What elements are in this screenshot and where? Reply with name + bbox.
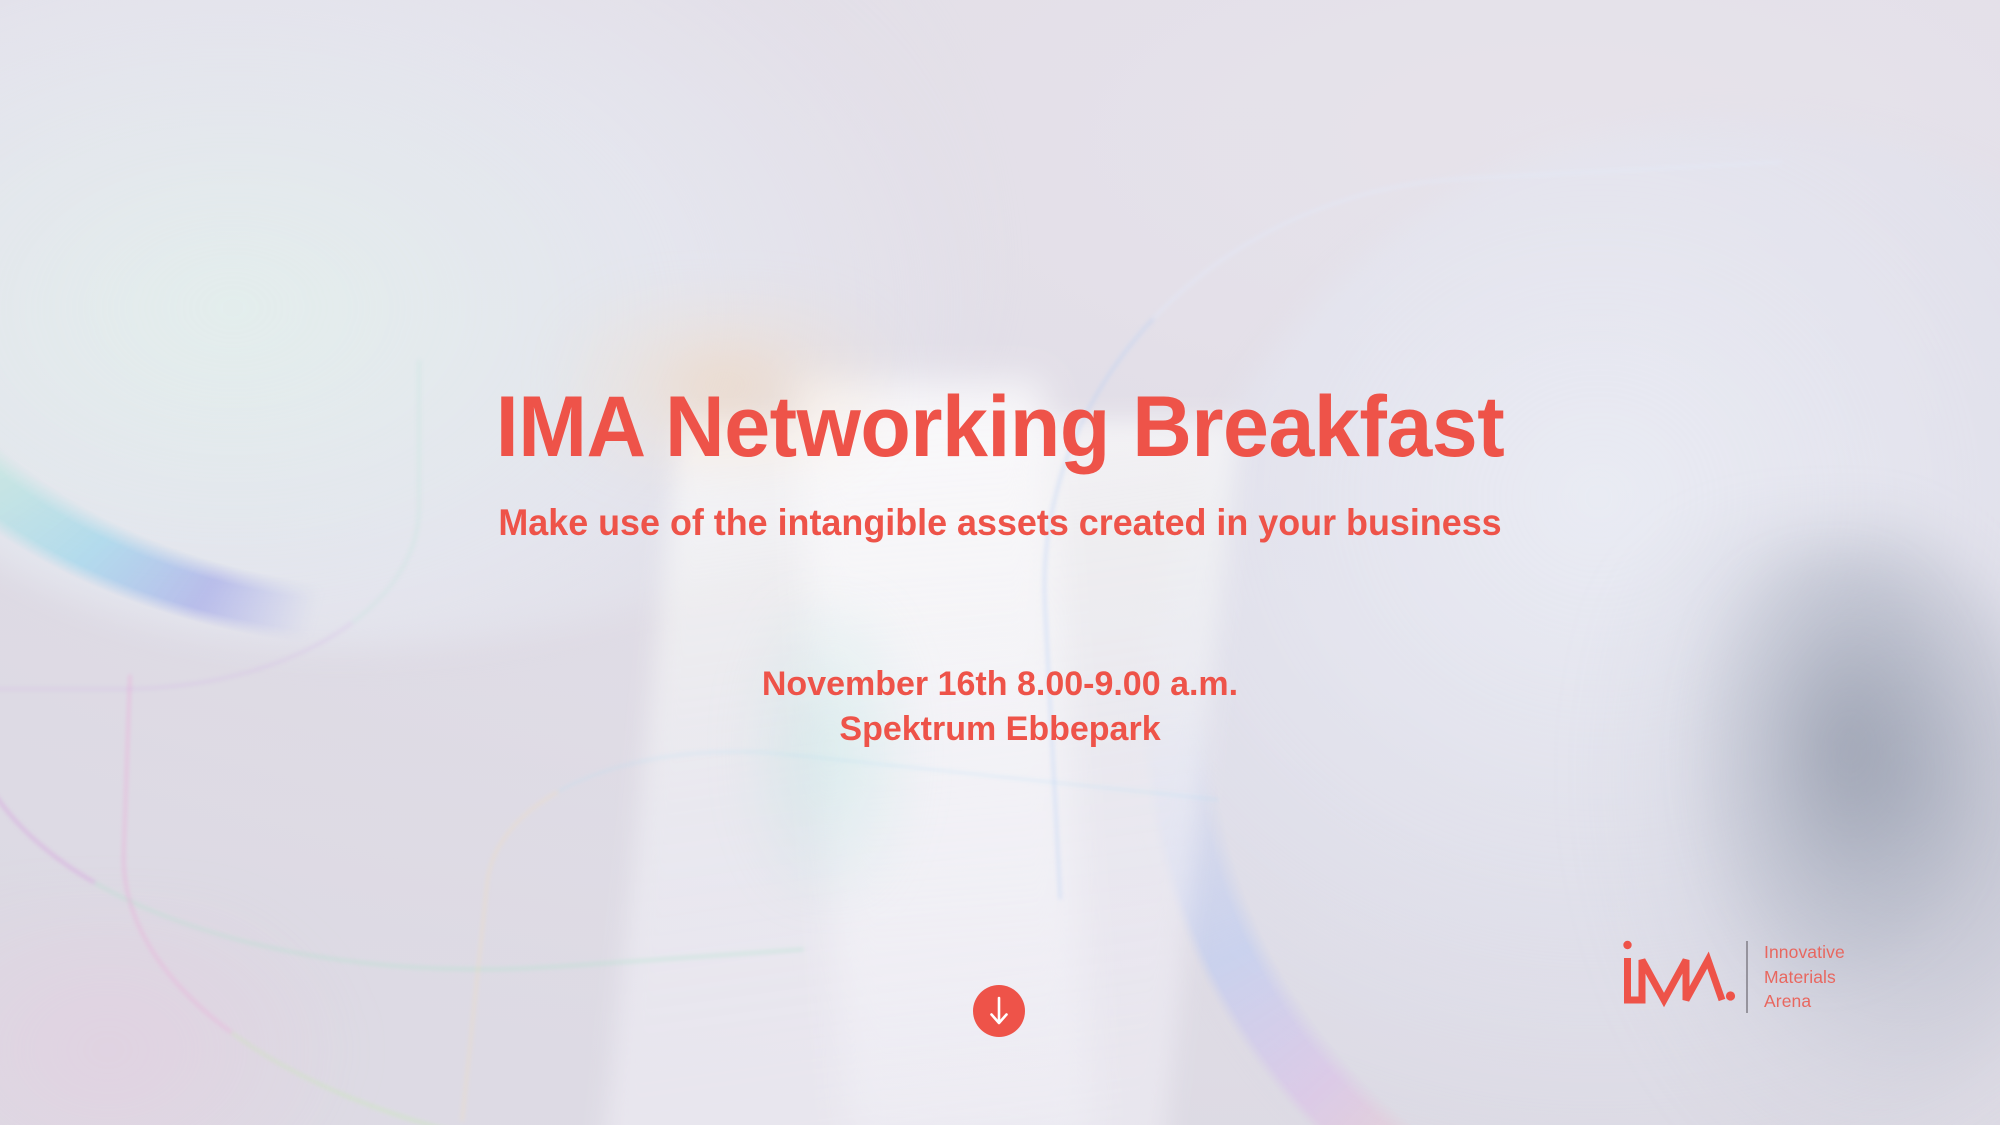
page-title: IMA Networking Breakfast bbox=[40, 384, 1960, 470]
arrow-down-icon bbox=[986, 995, 1012, 1027]
banner-stage: IMA Networking Breakfast Make use of the… bbox=[0, 0, 2000, 1125]
event-venue: Spektrum Ebbepark bbox=[0, 707, 2000, 752]
event-details: November 16th 8.00-9.00 a.m. Spektrum Eb… bbox=[0, 662, 2000, 752]
event-datetime: November 16th 8.00-9.00 a.m. bbox=[0, 662, 2000, 707]
scroll-down-button[interactable] bbox=[973, 985, 1025, 1037]
logo-word-line-3: Arena bbox=[1764, 989, 1845, 1014]
logo-divider bbox=[1746, 941, 1748, 1013]
logo-wordmark: Innovative Materials Arena bbox=[1764, 940, 1845, 1015]
logo-word-line-1: Innovative bbox=[1764, 940, 1845, 965]
banner-content: IMA Networking Breakfast Make use of the… bbox=[0, 0, 2000, 1125]
page-subtitle: Make use of the intangible assets create… bbox=[30, 504, 1970, 541]
ima-zigzag-logo-icon bbox=[1618, 938, 1736, 1016]
logo-word-line-2: Materials bbox=[1764, 965, 1845, 990]
ima-logo[interactable]: Innovative Materials Arena bbox=[1618, 938, 1845, 1016]
